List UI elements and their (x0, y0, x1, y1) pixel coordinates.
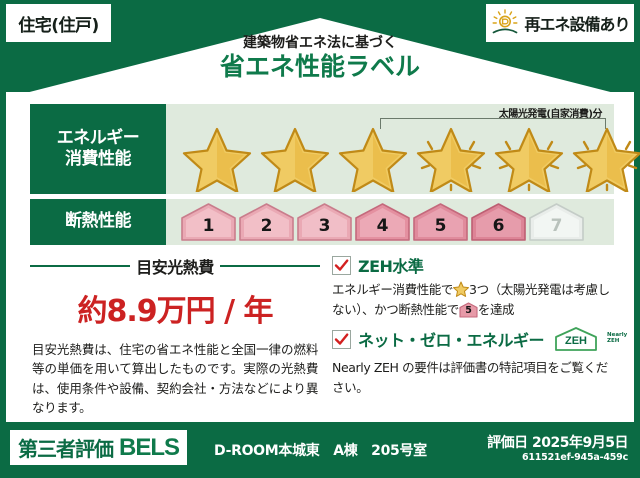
dwelling-type-badge: 住宅(住戸) (6, 4, 111, 42)
cost-title: 目安光熱費 (136, 254, 214, 278)
bels-jp-label: 第三者評価 (18, 433, 113, 462)
insulation-level-value: 7 (528, 202, 585, 242)
insulation-house-2: 2 (238, 202, 295, 242)
insulation-performance-label-box: 断熱性能 (30, 199, 166, 245)
net-zero-energy-label: ネット・ゼロ・エネルギー (358, 327, 544, 351)
inline-house-icon: 5 (459, 302, 478, 318)
net-zero-energy-line: ネット・ゼロ・エネルギー ZEH Nearly ZEH (332, 326, 614, 352)
renewable-badge-label: 再エネ設備あり (524, 11, 629, 35)
evaluation-date-value: 2025年9月5日 (532, 435, 628, 451)
insulation-house-3: 3 (296, 202, 353, 242)
star-icon (256, 120, 334, 192)
footer-band: 第三者評価 BELS D-ROOM本城東 A棟 205号室 評価日 2025年9… (0, 422, 640, 478)
energy-performance-label-box: エネルギー 消費性能 (30, 104, 166, 194)
checkbox-zeh-standard[interactable] (332, 256, 351, 275)
insulation-house-1: 1 (180, 202, 237, 242)
star-rating (178, 120, 640, 192)
bels-en-label: BELS (119, 434, 179, 462)
sun-solar-icon (490, 8, 520, 38)
insulation-house-7: 7 (528, 202, 585, 242)
energy-label-line1: エネルギー (57, 128, 140, 149)
cost-amount: 約8.9万円 / 年 (30, 286, 320, 330)
energy-performance-label: 住宅(住戸) 再エネ設備あり 建築物省エネ法に基づく 省エネ性 (0, 0, 640, 478)
ratings-section: エネルギー 消費性能 太陽光発電(自家消費)分 (30, 104, 614, 250)
star-icon-solar (490, 120, 568, 192)
insulation-level-value: 5 (412, 202, 469, 242)
evaluation-id: 611521ef-945a-459c (522, 452, 628, 463)
star-icon (334, 120, 412, 192)
renewable-equipment-badge: 再エネ設備あり (486, 4, 634, 42)
checkbox-net-zero-energy[interactable] (332, 330, 351, 349)
nearly-zeh-line2: ZEH (607, 338, 619, 344)
check-icon (334, 332, 349, 347)
insulation-house-scale: 1 2 3 4 (180, 202, 585, 242)
zeh-standard-description: エネルギー消費性能で3つ（太陽光発電は考慮しない）、かつ断熱性能で5を達成 (332, 280, 614, 320)
insulation-level-value: 1 (180, 202, 237, 242)
insulation-house-4: 4 (354, 202, 411, 242)
insulation-level-value: 6 (470, 202, 527, 242)
energy-performance-row: エネルギー 消費性能 太陽光発電(自家消費)分 (30, 104, 614, 194)
estimated-utility-cost-block: 目安光熱費 約8.9万円 / 年 目安光熱費は、住宅の省エネ性能と全国一律の燃料… (30, 252, 320, 410)
zeh-logo-icon: ZEH (553, 326, 599, 352)
zeh-desc-part1: エネルギー消費性能で (332, 282, 453, 297)
insulation-level-value: 3 (296, 202, 353, 242)
evaluation-date-label: 評価日 (487, 435, 528, 451)
zeh-desc-part3: を達成 (478, 302, 514, 317)
title-main: 省エネ性能ラベル (0, 51, 640, 82)
evaluation-date: 評価日 2025年9月5日 (487, 432, 628, 452)
star-icon-solar (568, 120, 640, 192)
nearly-zeh-tag: Nearly ZEH (607, 333, 627, 345)
rule-left (30, 265, 130, 267)
zeh-standard-label: ZEH水準 (358, 253, 423, 277)
lower-section: 目安光熱費 約8.9万円 / 年 目安光熱費は、住宅の省エネ性能と全国一律の燃料… (30, 252, 614, 410)
zeh-standard-line: ZEH水準 (332, 253, 614, 277)
insulation-house-5: 5 (412, 202, 469, 242)
insulation-level-value: 2 (238, 202, 295, 242)
label-title: 建築物省エネ法に基づく 省エネ性能ラベル (0, 36, 640, 83)
net-zero-energy-description: Nearly ZEH の要件は評価書の特記項目をご覧ください。 (332, 358, 614, 398)
insulation-performance-row: 断熱性能 1 2 3 (30, 199, 614, 245)
star-icon (178, 120, 256, 192)
insulation-levels-panel: 1 2 3 4 (166, 199, 614, 245)
inline-house-value: 5 (459, 302, 478, 318)
building-name: D-ROOM本城東 A棟 205号室 (214, 440, 427, 460)
energy-stars-panel: 太陽光発電(自家消費)分 (166, 104, 614, 194)
label-body-card: エネルギー 消費性能 太陽光発電(自家消費)分 (6, 92, 634, 422)
zeh-block: ZEH水準 エネルギー消費性能で3つ（太陽光発電は考慮しない）、かつ断熱性能で5… (320, 252, 614, 410)
rule-right (220, 265, 320, 267)
svg-text:ZEH: ZEH (565, 335, 587, 347)
insulation-house-6: 6 (470, 202, 527, 242)
energy-label-line2: 消費性能 (65, 149, 131, 170)
check-icon (334, 258, 349, 273)
inline-star-icon (453, 281, 469, 297)
star-icon-solar (412, 120, 490, 192)
cost-note: 目安光熱費は、住宅の省エネ性能と全国一律の燃料等の単価を用いて算出したものです。… (30, 340, 320, 418)
bels-logo: 第三者評価 BELS (10, 430, 187, 465)
cost-heading: 目安光熱費 (30, 254, 320, 278)
insulation-level-value: 4 (354, 202, 411, 242)
